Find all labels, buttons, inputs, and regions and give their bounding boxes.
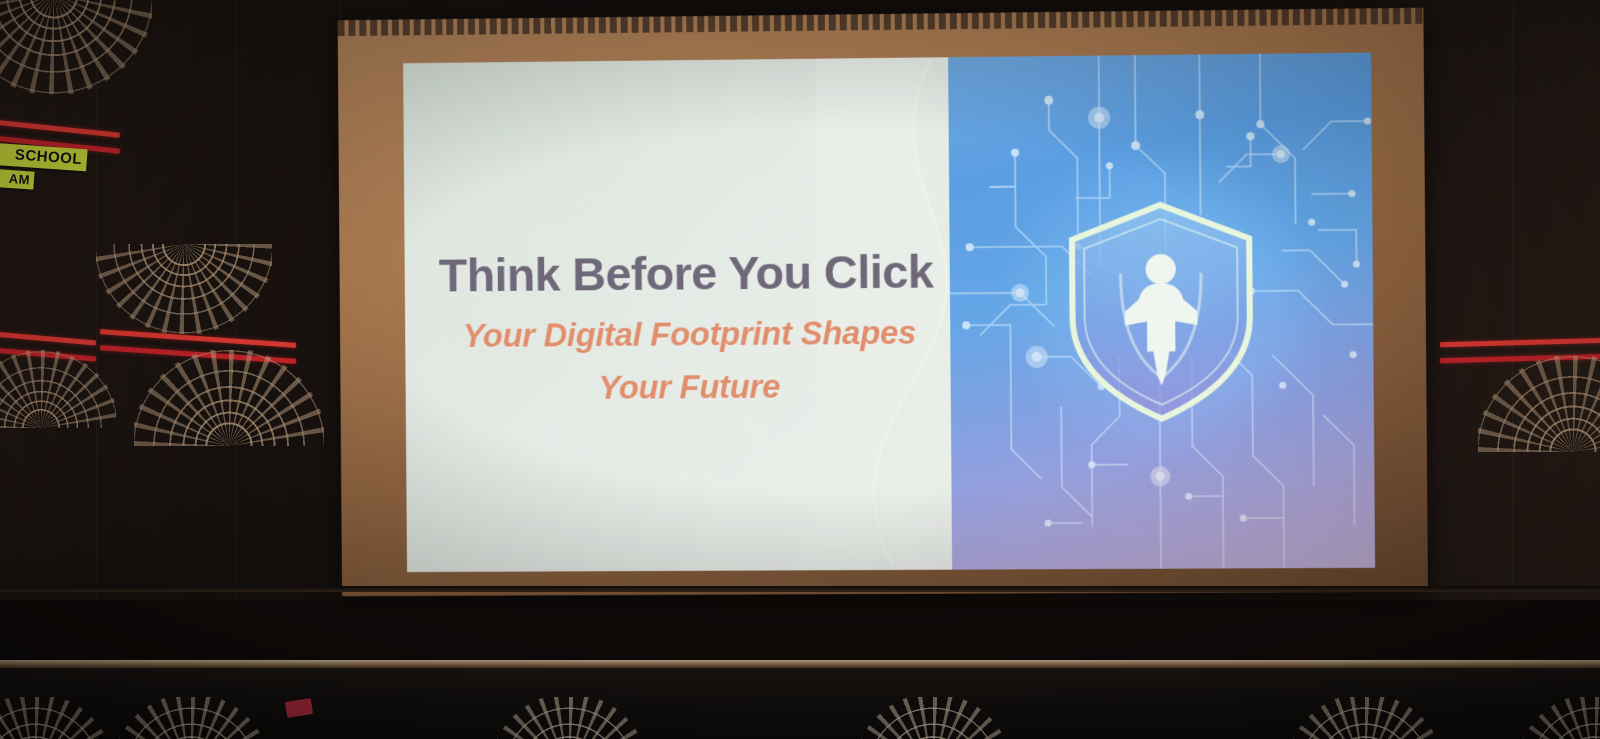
- stage-floor: [0, 588, 1600, 668]
- stage-skirt: [0, 668, 1600, 739]
- slide-subtitle-line-2: Your Future: [411, 359, 969, 416]
- skirt-mandala-motif: [858, 697, 1008, 739]
- mandala-motif: [0, 350, 116, 428]
- presentation-slide: Think Before You Click Your Digital Foot…: [403, 53, 1375, 573]
- projection-screen-frame: Think Before You Click Your Digital Foot…: [338, 8, 1428, 597]
- slide-subtitle-line-1: Your Digital Footprint Shapes: [411, 305, 969, 362]
- skirt-mandala-motif: [1520, 697, 1600, 739]
- slide-subtitle: Your Digital Footprint Shapes Your Futur…: [411, 305, 969, 416]
- mandala-motif: [134, 350, 324, 446]
- slide-text-block: Think Before You Click Your Digital Foot…: [403, 57, 970, 572]
- mandala-motif: [0, 0, 152, 94]
- shield-graphic: [1060, 198, 1263, 425]
- mandala-motif: [96, 244, 272, 334]
- skirt-mandala-motif: [494, 697, 644, 739]
- skirt-mandala-motif: [1290, 697, 1440, 739]
- school-placard-secondary: AM: [0, 168, 35, 189]
- skirt-mandala-motif: [0, 697, 110, 739]
- skirt-mandala-motif: [116, 697, 266, 739]
- auditorium-stage-photo: SCHOOL AM: [0, 0, 1600, 739]
- mandala-motif: [1478, 356, 1600, 452]
- slide-title: Think Before You Click: [405, 243, 969, 303]
